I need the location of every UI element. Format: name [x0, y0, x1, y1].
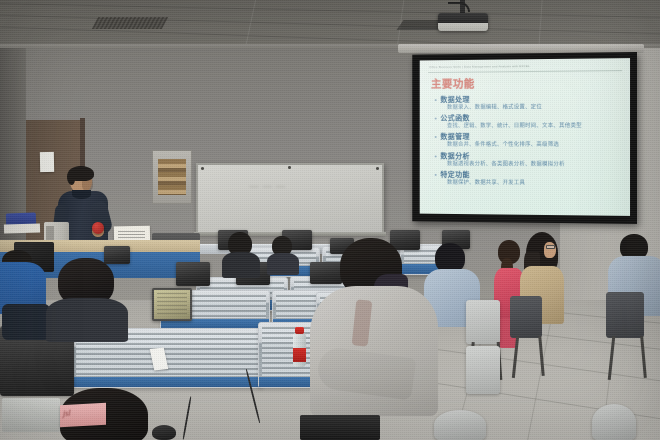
slide-bullet-sub: 查找、逻辑、数学、统计、日期时间、文本、其他类型	[435, 122, 624, 130]
whiteboard-writing: — — —	[250, 181, 349, 206]
lab-monitor	[310, 262, 342, 284]
monitor-stand	[2, 398, 60, 432]
slide-bullet-sub: 数据保护、数据共享、开发工具	[435, 179, 624, 188]
chair[interactable]	[510, 296, 542, 338]
attendee-torso	[222, 252, 260, 278]
slide-bullet: 特定功能 数据保护、数据共享、开发工具	[435, 170, 624, 188]
attendee-torso	[267, 253, 299, 275]
slide-bullet-heading: 公式函数	[435, 113, 624, 122]
wall-art-inner	[158, 159, 186, 195]
slide-bullet: 数据管理 数据合并、条件格式、个性化排序、高级筛选	[435, 132, 624, 149]
bottle-label	[293, 348, 306, 362]
desk-partition-foreground	[258, 322, 316, 388]
slide-bullet: 数据分析 数据透视表分析、各类图表分析、数据模拟分析	[435, 151, 624, 168]
slide-bullet: 数据处理 数据录入、数据编辑、格式设置、定位	[435, 94, 624, 112]
presenter-collar	[72, 190, 91, 199]
attendee-lower-body	[2, 304, 50, 340]
glasses-icon	[546, 245, 555, 249]
projection-screen: Office Business Skills | Data Management…	[412, 52, 637, 224]
lab-monitor-on	[152, 288, 192, 321]
chair[interactable]	[592, 404, 636, 440]
slide-bullet-list: 数据处理 数据录入、数据编辑、格式设置、定位 公式函数 查找、逻辑、数学、统计、…	[435, 94, 624, 190]
chair[interactable]	[466, 346, 500, 394]
slide-bullet-sub: 数据录入、数据编辑、格式设置、定位	[435, 103, 624, 112]
chair[interactable]	[606, 292, 644, 338]
bottle-cap	[295, 327, 304, 334]
slide-header-text: Office Business Skills | Data Management…	[429, 63, 622, 69]
mouse[interactable]	[152, 425, 176, 440]
classroom-photo: Office Business Skills | Data Management…	[0, 0, 660, 440]
ceiling-vent-icon	[92, 17, 168, 29]
lab-monitor	[104, 246, 130, 264]
desk-papers	[4, 224, 40, 234]
presenter-hair-side	[67, 171, 75, 185]
slide-bullet-sub: 数据透视表分析、各类图表分析、数据模拟分析	[435, 160, 624, 169]
slide-header-rule	[428, 70, 622, 73]
monitor-screen-content	[157, 293, 187, 316]
slide-bullet: 公式函数 查找、逻辑、数学、统计、日期时间、文本、其他类型	[435, 113, 624, 130]
partition-base	[259, 377, 315, 387]
attendee-torso	[46, 298, 128, 342]
whiteboard: — — —	[196, 163, 384, 234]
slide-bullet-heading: 数据管理	[435, 132, 624, 141]
desk-label-text: jsl	[63, 409, 71, 418]
lab-monitor	[176, 262, 210, 286]
microphone-icon	[92, 222, 104, 234]
slide-bullet-sub: 数据合并、条件格式、个性化排序、高级筛选	[435, 141, 624, 149]
desk-label-card: jsl	[60, 403, 106, 427]
ceiling-projector-icon	[438, 13, 488, 31]
keyboard[interactable]	[300, 415, 380, 440]
chair[interactable]	[466, 300, 500, 344]
slide-surface: Office Business Skills | Data Management…	[420, 58, 630, 216]
wall-art-frame	[152, 150, 192, 204]
chair[interactable]	[434, 410, 486, 440]
slide-title: 主要功能	[431, 75, 475, 91]
partition-base	[73, 377, 261, 387]
